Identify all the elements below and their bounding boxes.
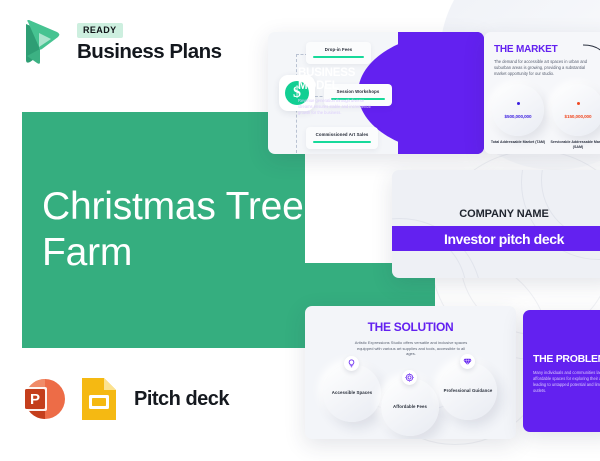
solution-node[interactable]: Affordable Fees xyxy=(381,378,439,436)
business-model-purple-fill xyxy=(398,32,484,154)
slide-the-market[interactable]: THE MARKET The demand for accessible art… xyxy=(484,32,600,154)
market-metric-circle: $150,000,000 xyxy=(552,84,600,136)
market-metric-value: $500,000,000 xyxy=(505,114,532,119)
powerpoint-icon: P xyxy=(20,376,66,422)
investor-pitch-label: Investor pitch deck xyxy=(444,231,564,247)
slide-the-problem[interactable]: THE PROBLEM Many individuals and communi… xyxy=(523,310,600,432)
business-model-item-underline xyxy=(313,141,371,143)
market-metric-dot xyxy=(577,102,580,105)
diamond-icon xyxy=(460,354,475,369)
market-metric-caption: Serviceable Addressable Market (SAM) xyxy=(548,140,600,150)
target-icon xyxy=(402,370,417,385)
business-model-title: BUSINESS MODEL xyxy=(298,67,376,93)
solution-body: Artistic Expressions Studio offers versa… xyxy=(353,340,469,357)
google-slides-icon xyxy=(78,376,120,422)
format-row: P Pitch deck xyxy=(20,376,229,422)
svg-text:P: P xyxy=(30,391,40,408)
solution-node[interactable]: Professional Guidance xyxy=(439,362,497,420)
business-model-item-label: Drop-in Fees xyxy=(313,47,364,52)
solution-node-label: Accessible Spaces xyxy=(332,390,372,396)
business-model-item-underline xyxy=(313,56,364,58)
business-model-item[interactable]: Commissioned Art Sales xyxy=(306,127,378,149)
pitch-deck-label: Pitch deck xyxy=(134,388,229,411)
solution-node-label: Affordable Fees xyxy=(393,404,427,410)
brand-logo: READY Business Plans xyxy=(20,18,222,66)
business-model-item[interactable]: Drop-in Fees xyxy=(306,42,371,64)
company-name-label: COMPANY NAME xyxy=(392,208,600,220)
company-slide-decor xyxy=(392,170,600,278)
slide-business-model[interactable]: $ Drop-in Fees Session Workshops Commiss… xyxy=(268,32,484,154)
slide-company-name[interactable]: COMPANY NAME Investor pitch deck xyxy=(392,170,600,278)
problem-body: Many individuals and communities lack ac… xyxy=(533,370,600,394)
pitch-deck-preview: Christmas Tree Farm READY Business Plans… xyxy=(0,0,600,461)
ready-badge: READY xyxy=(77,23,123,38)
business-model-text-block: BUSINESS MODEL Revenue generation throug… xyxy=(298,67,376,116)
lightbulb-icon xyxy=(344,356,359,371)
solution-title: THE SOLUTION xyxy=(305,320,516,334)
page-title: Christmas Tree Farm xyxy=(42,184,342,276)
market-title: THE MARKET xyxy=(494,44,558,55)
investor-pitch-band: Investor pitch deck xyxy=(392,226,600,251)
play-arrow-logo-icon xyxy=(20,18,66,66)
market-metric-caption: Total Addressable Market (TAM) xyxy=(488,140,548,145)
solution-node-label: Professional Guidance xyxy=(444,388,493,394)
problem-title: THE PROBLEM xyxy=(533,353,600,365)
business-model-body: Revenue generation through diverse strea… xyxy=(298,98,376,116)
brand-name: Business Plans xyxy=(77,40,222,64)
market-metric-circle: $500,000,000 xyxy=(492,84,544,136)
market-metric-dot xyxy=(517,102,520,105)
curved-arrow-icon xyxy=(582,42,600,66)
business-model-item-label: Commissioned Art Sales xyxy=(313,132,371,137)
solution-node[interactable]: Accessible Spaces xyxy=(323,364,381,422)
slide-the-solution[interactable]: THE SOLUTION Artistic Expressions Studio… xyxy=(305,306,516,439)
market-metric-value: $150,000,000 xyxy=(565,114,592,119)
